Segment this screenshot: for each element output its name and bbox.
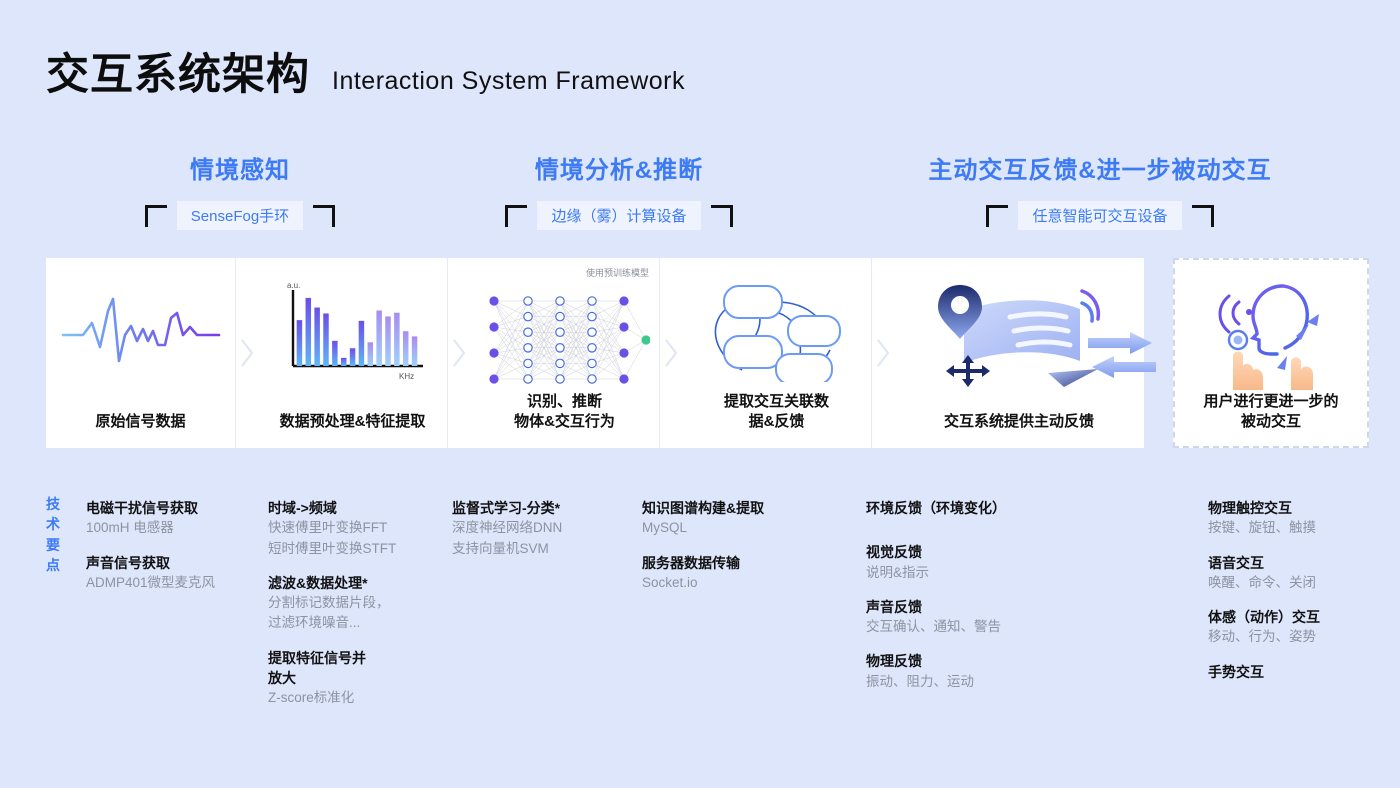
tech-item-heading: 时域->频域 [268, 498, 428, 518]
tech-item-heading: 物理触控交互 [1208, 498, 1388, 518]
pipeline-card-recognition[interactable]: 使用预训练模型 识别、推断 物体&交互行为 [470, 258, 660, 448]
tech-item-heading: 监督式学习-分类* [452, 498, 622, 518]
neural-node [489, 322, 498, 331]
chevron-separator-icon [872, 258, 894, 448]
tech-item-sub: 移动、行为、姿势 [1208, 627, 1388, 647]
tech-item-heading: 服务器数据传输 [642, 553, 822, 573]
bracket-right-icon [711, 205, 733, 227]
tech-item: 声音反馈交互确认、通知、警告 [866, 597, 1066, 638]
spectrum-chart-icon: a.u. KHz [258, 268, 447, 388]
phase-title: 主动交互反馈&进一步被动交互 [900, 150, 1300, 185]
neural-node [555, 359, 563, 367]
tech-item: 环境反馈（环境变化） [866, 498, 1066, 518]
neural-node [523, 297, 531, 305]
neural-node [619, 348, 628, 357]
chevron-separator-icon [448, 258, 470, 448]
spectrum-bar [411, 336, 416, 366]
tech-item-sub: 说明&指示 [866, 563, 1066, 583]
neural-node [523, 375, 531, 383]
tech-item-sub: 唤醒、命令、关闭 [1208, 573, 1388, 593]
phase-header-analysis: 情境分析&推断 边缘（雾）计算设备 [488, 150, 750, 230]
tech-item: 时域->频域快速傅里叶变换FFT 短时傅里叶变换STFT [268, 498, 428, 559]
neural-node [555, 328, 563, 336]
bracket-right-icon [313, 205, 335, 227]
phase-header-feedback: 主动交互反馈&进一步被动交互 任意智能可交互设备 [900, 150, 1300, 230]
card-label: 交互系统提供主动反馈 [944, 412, 1094, 432]
waveform-icon [46, 268, 235, 388]
spectrum-bar [402, 331, 407, 366]
phase-title: 情境分析&推断 [488, 150, 750, 185]
neural-network-icon [470, 280, 659, 400]
phase-device-group: SenseFog手环 [120, 201, 360, 230]
tech-item: 监督式学习-分类*深度神经网络DNN 支持向量机SVM [452, 498, 622, 559]
card-label: 原始信号数据 [95, 412, 185, 432]
spectrum-bar [332, 341, 337, 366]
bracket-left-icon [986, 205, 1008, 227]
tech-column-feedback: 环境反馈（环境变化）视觉反馈说明&指示声音反馈交互确认、通知、警告物理反馈振动、… [866, 498, 1066, 706]
page-title-en: Interaction System Framework [332, 67, 685, 96]
neural-node [587, 312, 595, 320]
spectrum-bar [296, 320, 301, 366]
tech-item-heading: 提取特征信号并 放大 [268, 648, 428, 689]
spectrum-bar [385, 316, 390, 366]
card-label: 提取交互关联数 据&反馈 [724, 392, 829, 433]
tech-item: 视觉反馈说明&指示 [866, 542, 1066, 583]
tech-item-heading: 滤波&数据处理* [268, 573, 428, 593]
tech-item-sub: 分割标记数据片段， 过滤环境噪音... [268, 593, 428, 634]
card-label: 数据预处理&特征提取 [280, 412, 426, 432]
tech-item-sub: Z-score标准化 [268, 688, 428, 708]
tech-item-sub: 100mH 电感器 [86, 518, 256, 538]
neural-node [587, 297, 595, 305]
neural-node [489, 374, 498, 383]
neural-node [555, 297, 563, 305]
tech-points-vertical-label: 技术要点 [44, 494, 62, 575]
bidirectional-arrows-icon [1082, 330, 1162, 380]
x-axis-label: KHz [399, 372, 414, 381]
phase-device-group: 边缘（雾）计算设备 [488, 201, 750, 230]
spectrum-bar [349, 348, 354, 366]
tech-item-sub: 按键、旋钮、触摸 [1208, 518, 1388, 538]
neural-node [587, 359, 595, 367]
neural-node [587, 344, 595, 352]
tech-item-heading: 声音反馈 [866, 597, 1066, 617]
tech-item-heading: 体感（动作）交互 [1208, 607, 1388, 627]
tech-column-knowledge: 知识图谱构建&提取MySQL服务器数据传输Socket.io [642, 498, 822, 607]
knowledge-graph-icon [682, 268, 871, 388]
page-title-cn: 交互系统架构 [46, 40, 310, 102]
neural-node [555, 375, 563, 383]
tech-item-heading: 环境反馈（环境变化） [866, 498, 1066, 518]
tech-item: 物理触控交互按键、旋钮、触摸 [1208, 498, 1388, 539]
bracket-left-icon [145, 205, 167, 227]
neural-node [489, 348, 498, 357]
neural-node [523, 312, 531, 320]
tech-item-heading: 电磁干扰信号获取 [86, 498, 256, 518]
pipeline-card-preprocessing[interactable]: a.u. KHz 数据预处理&特征提取 [258, 258, 448, 448]
tech-item: 语音交互唤醒、命令、关闭 [1208, 553, 1388, 594]
neural-node [555, 344, 563, 352]
spectrum-bar [340, 358, 345, 366]
tech-item: 滤波&数据处理*分割标记数据片段， 过滤环境噪音... [268, 573, 428, 634]
tech-item: 手势交互 [1208, 662, 1388, 682]
tech-item-sub: 振动、阻力、运动 [866, 672, 1066, 692]
pipeline-card-knowledge-graph[interactable]: 提取交互关联数 据&反馈 [682, 258, 872, 448]
phase-title: 情境感知 [120, 150, 360, 185]
y-axis-label: a.u. [287, 281, 300, 290]
neural-node [641, 335, 650, 344]
neural-node [523, 328, 531, 336]
bracket-right-icon [1192, 205, 1214, 227]
tech-item: 提取特征信号并 放大Z-score标准化 [268, 648, 428, 709]
tech-item-sub: ADMP401微型麦克风 [86, 573, 256, 593]
device-label: 任意智能可交互设备 [1018, 201, 1181, 230]
tech-column-preprocessing: 时域->频域快速傅里叶变换FFT 短时傅里叶变换STFT滤波&数据处理*分割标记… [268, 498, 428, 722]
tech-item: 物理反馈振动、阻力、运动 [866, 651, 1066, 692]
page-header: 交互系统架构 Interaction System Framework [46, 40, 685, 102]
tech-item: 体感（动作）交互移动、行为、姿势 [1208, 607, 1388, 648]
tech-item-sub: 交互确认、通知、警告 [866, 617, 1066, 637]
tech-item: 服务器数据传输Socket.io [642, 553, 822, 594]
neural-node [619, 322, 628, 331]
spectrum-bar [358, 321, 363, 366]
spectrum-bar [323, 313, 328, 366]
tech-item-sub: Socket.io [642, 573, 822, 593]
user-passive-interaction-icon [1175, 268, 1367, 398]
tech-item-heading: 知识图谱构建&提取 [642, 498, 822, 518]
tech-item-heading: 手势交互 [1208, 662, 1388, 682]
phase-device-group: 任意智能可交互设备 [900, 201, 1300, 230]
spectrum-bar [314, 308, 319, 366]
tech-item-sub: 快速傅里叶变换FFT 短时傅里叶变换STFT [268, 518, 428, 559]
tech-item-heading: 声音信号获取 [86, 553, 256, 573]
tech-item-heading: 语音交互 [1208, 553, 1388, 573]
neural-node [489, 296, 498, 305]
tech-column-interaction: 物理触控交互按键、旋钮、触摸语音交互唤醒、命令、关闭体感（动作）交互移动、行为、… [1208, 498, 1388, 706]
tech-item-sub: MySQL [642, 518, 822, 538]
pretrained-model-note: 使用预训练模型 [586, 266, 649, 279]
tech-item-sub: 深度神经网络DNN 支持向量机SVM [452, 518, 622, 559]
neural-node [619, 296, 628, 305]
pipeline-card-raw-signal[interactable]: 原始信号数据 [46, 258, 236, 448]
spectrum-bar [376, 311, 381, 367]
passive-interaction-card[interactable]: 用户进行更进一步的 被动交互 [1173, 258, 1369, 448]
device-label: SenseFog手环 [177, 201, 303, 230]
tech-item: 电磁干扰信号获取100mH 电感器 [86, 498, 256, 539]
pipeline-card-strip: 原始信号数据 a.u. KHz 数据预处理&特征提取 使用预训练模型 [46, 258, 1144, 448]
spectrum-bar [394, 313, 399, 366]
bracket-left-icon [505, 205, 527, 227]
tech-item: 知识图谱构建&提取MySQL [642, 498, 822, 539]
tech-item-heading: 物理反馈 [866, 651, 1066, 671]
tech-item: 声音信号获取ADMP401微型麦克风 [86, 553, 256, 594]
chevron-separator-icon [660, 258, 682, 448]
tech-item-heading: 视觉反馈 [866, 542, 1066, 562]
spectrum-bar [305, 298, 310, 366]
phase-header-sensing: 情境感知 SenseFog手环 [120, 150, 360, 230]
spectrum-bar [367, 342, 372, 366]
neural-node [587, 328, 595, 336]
neural-node [523, 359, 531, 367]
tech-column-sensing: 电磁干扰信号获取100mH 电感器声音信号获取ADMP401微型麦克风 [86, 498, 256, 607]
neural-node [619, 374, 628, 383]
neural-node [523, 344, 531, 352]
tech-column-recognition: 监督式学习-分类*深度神经网络DNN 支持向量机SVM [452, 498, 622, 573]
chevron-separator-icon [236, 258, 258, 448]
neural-node [587, 375, 595, 383]
neural-node [555, 312, 563, 320]
device-label: 边缘（雾）计算设备 [537, 201, 700, 230]
